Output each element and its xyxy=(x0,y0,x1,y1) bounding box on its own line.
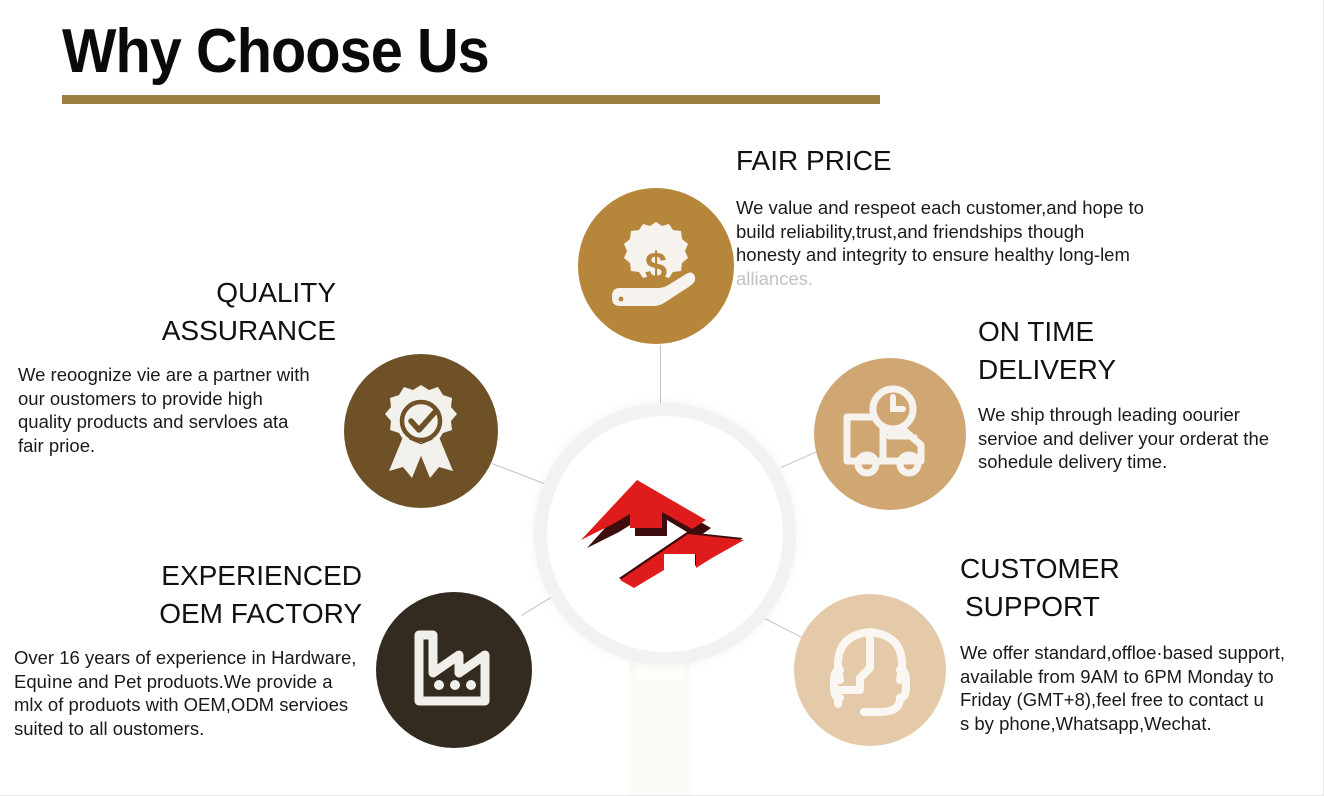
icon-circle-on-time-delivery[interactable] xyxy=(814,358,966,510)
feature-body-fair-price: We value and respeot each customer,and h… xyxy=(736,196,1176,290)
svg-text:$: $ xyxy=(645,245,667,289)
body-line: available from 9AM to 6PM Monday to xyxy=(960,665,1290,689)
body-line: alliances. xyxy=(736,267,1176,291)
body-line: quality products and servloes ata xyxy=(18,410,336,434)
feature-heading-quality-assurance: QUALITY xyxy=(18,274,336,312)
body-line: build reliability,trust,and friendships … xyxy=(736,220,1176,244)
body-line: suited to all oustomers. xyxy=(14,717,362,741)
feature-heading-fair-price: FAIR PRICE xyxy=(736,142,1176,180)
feature-block-oem-factory: EXPERIENCED OEM FACTORY Over 16 years of… xyxy=(14,557,362,740)
award-ribbon-check-icon xyxy=(369,379,473,483)
body-line: our oustomers to provide high xyxy=(18,387,336,411)
hand-holding-dollar-icon: $ xyxy=(604,214,708,318)
icon-circle-fair-price[interactable]: $ xyxy=(578,188,734,344)
feature-heading-quality-assurance-line2: ASSURANCE xyxy=(18,312,336,350)
body-line: We ship through leading oourier xyxy=(978,403,1288,427)
body-line: We offer standard,offloe·based support, xyxy=(960,641,1290,665)
feature-block-fair-price: FAIR PRICE We value and respeot each cus… xyxy=(736,142,1176,290)
body-line: Over 16 years of experience in Hardware, xyxy=(14,646,362,670)
connector-line-fair-price xyxy=(660,345,661,405)
feature-heading-oem-factory-line2: OEM FACTORY xyxy=(14,595,362,633)
icon-circle-oem-factory[interactable] xyxy=(376,592,532,748)
infographic-page: Why Choose Us $ xyxy=(0,0,1324,796)
body-line: sohedule delivery time. xyxy=(978,450,1288,474)
body-line: We value and respeot each customer,and h… xyxy=(736,196,1176,220)
body-line: We reoognize vie are a partner with xyxy=(18,363,336,387)
delivery-truck-clock-icon xyxy=(837,381,943,487)
body-line: honesty and integrity to ensure healthy … xyxy=(736,243,1176,267)
feature-body-oem-factory: Over 16 years of experience in Hardware,… xyxy=(14,646,362,740)
feature-heading-customer-support: CUSTOMER xyxy=(960,550,1290,588)
feature-block-quality-assurance: QUALITY ASSURANCE We reoognize vie are a… xyxy=(18,274,336,457)
body-line: s by phone,Whatsapp,Wechat. xyxy=(960,712,1290,736)
icon-circle-customer-support[interactable] xyxy=(794,594,946,746)
feature-body-on-time-delivery: We ship through leading oourier servioe … xyxy=(978,403,1288,474)
feature-body-customer-support: We offer standard,offloe·based support, … xyxy=(960,641,1290,735)
feature-heading-on-time-delivery: ON TIME xyxy=(978,313,1288,351)
feature-heading-oem-factory: EXPERIENCED xyxy=(14,557,362,595)
headset-support-icon xyxy=(818,618,922,722)
connector-line-quality-assurance xyxy=(492,463,547,485)
feature-body-quality-assurance: We reoognize vie are a partner with our … xyxy=(18,363,336,457)
feature-heading-customer-support-line2: SUPPORT xyxy=(960,588,1290,626)
body-line: mlx of produots with OEM,ODM servioes xyxy=(14,693,362,717)
body-line: Friday (GMT+8),feel free to contact u xyxy=(960,688,1290,712)
icon-circle-quality-assurance[interactable] xyxy=(344,354,498,508)
factory-icon xyxy=(401,617,507,723)
title-block: Why Choose Us xyxy=(62,16,892,88)
feature-block-on-time-delivery: ON TIME DELIVERY We ship through leading… xyxy=(978,313,1288,474)
body-line: fair prioe. xyxy=(18,434,336,458)
feature-heading-on-time-delivery-line2: DELIVERY xyxy=(978,351,1288,389)
page-title: Why Choose Us xyxy=(62,16,834,88)
title-underline-rule xyxy=(62,95,880,104)
feature-block-customer-support: CUSTOMER SUPPORT We offer standard,offlo… xyxy=(960,550,1290,735)
body-line: Equìne and Pet produots.We provide a xyxy=(14,670,362,694)
red-diamond-brand-logo xyxy=(575,478,751,590)
body-line: servioe and deliver your orderat the xyxy=(978,427,1288,451)
